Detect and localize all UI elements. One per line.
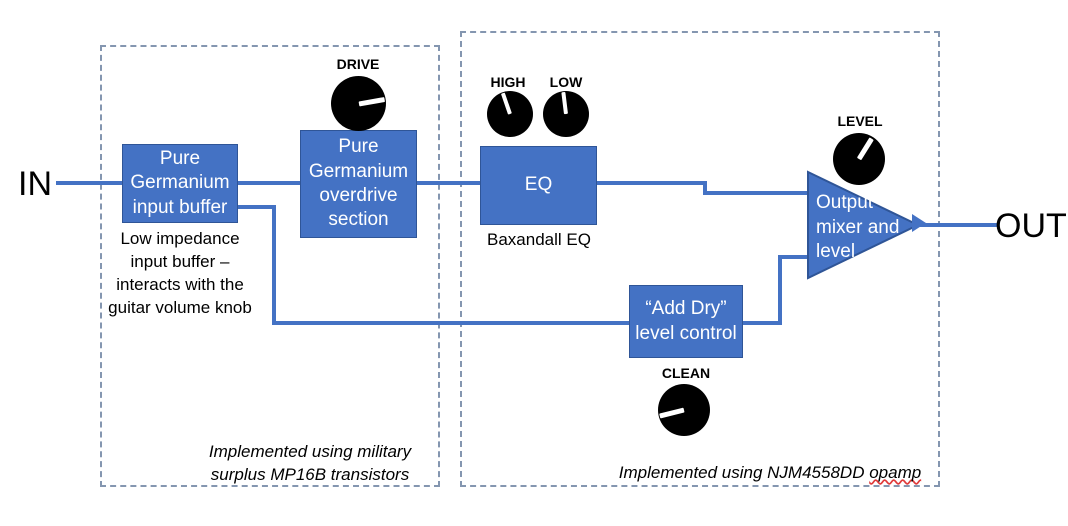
output-terminal-label: OUT [995,207,1067,246]
knob-label-drive: DRIVE [310,56,406,72]
knob-high-pointer [501,93,512,115]
section-opamp-caption-text: Implemented using NJM4558DD [619,463,869,482]
block-add-dry[interactable]: “Add Dry” level control [629,285,743,358]
knob-label-low: LOW [538,74,594,90]
caption-eq: Baxandall EQ [466,229,612,252]
wire-dry-to-add-dry [272,321,630,325]
input-terminal-label: IN [18,165,52,204]
block-input-buffer[interactable]: Pure Germanium input buffer [122,144,238,223]
knob-clean[interactable] [658,384,710,436]
knob-level-pointer [857,137,874,160]
wire-dry-split-horizontal [237,205,276,209]
knob-drive[interactable] [331,76,386,131]
knob-drive-pointer [358,97,384,106]
knob-clean-pointer [659,408,684,419]
wire-add-dry-out-segment-1 [742,321,782,325]
block-output-mixer[interactable]: Output mixer and level [807,171,919,279]
wire-input-buffer-to-overdrive [237,181,301,185]
wire-eq-to-mixer [703,191,815,195]
out-arrowhead-icon [912,212,934,239]
caption-input-buffer: Low impedance input buffer – interacts w… [106,228,254,320]
knob-high[interactable] [487,91,533,137]
output-mixer-label: Output mixer and level [816,191,899,265]
knob-label-high: HIGH [480,74,536,90]
knob-low-pointer [561,92,568,114]
knob-level[interactable] [833,133,885,185]
diagram-canvas: Implemented using military surplus MP16B… [0,0,1068,526]
knob-label-clean: CLEAN [638,365,734,381]
section-opamp-caption: Implemented using NJM4558DD opamp [600,461,940,484]
wire-dry-vertical [272,205,276,325]
wire-overdrive-to-eq [416,181,481,185]
section-opamp-caption-flagged-word: opamp [869,463,921,482]
knob-low[interactable] [543,91,589,137]
block-eq[interactable]: EQ [480,146,597,225]
wire-add-dry-riser [778,255,782,323]
wire-in-to-input-buffer [56,181,123,185]
section-germanium-caption: Implemented using military surplus MP16B… [180,440,440,487]
wire-eq-out-segment-1 [596,181,707,185]
block-overdrive[interactable]: Pure Germanium overdrive section [300,130,417,238]
knob-label-level: LEVEL [812,113,908,129]
